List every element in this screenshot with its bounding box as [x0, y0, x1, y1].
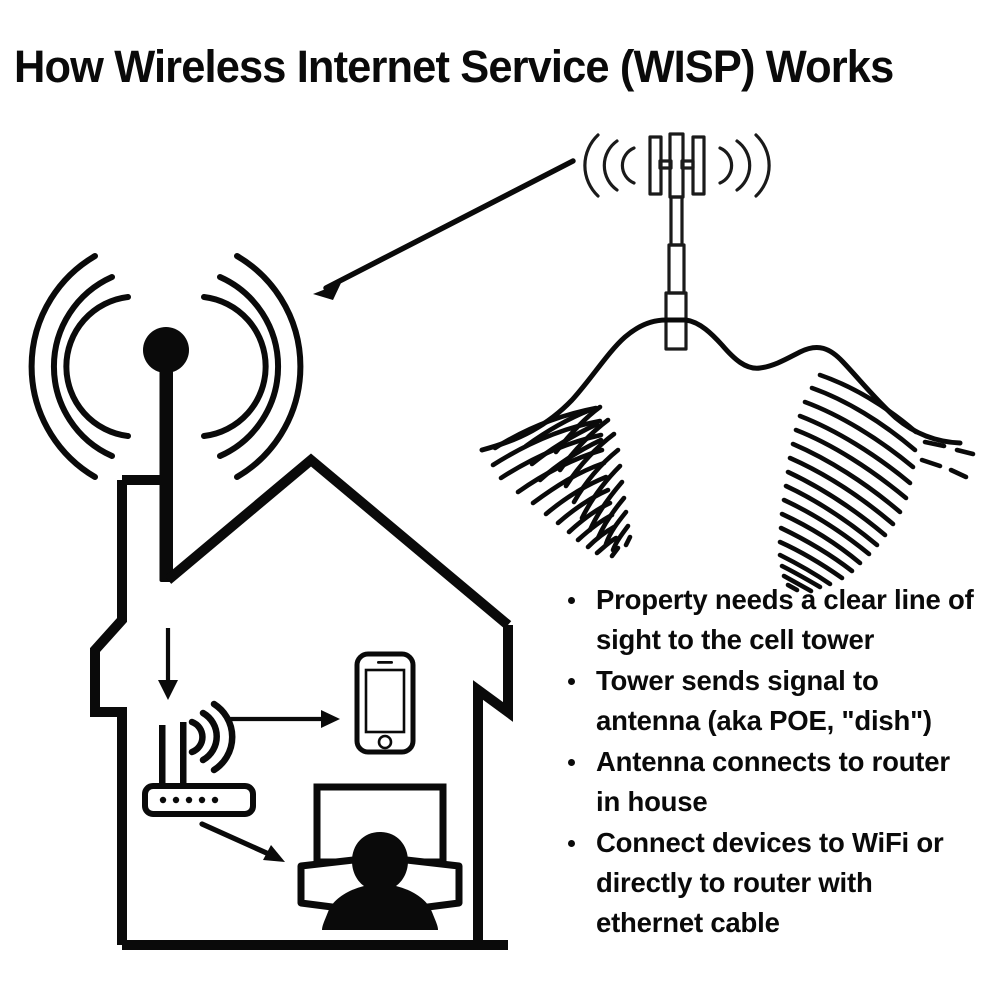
cell-tower-icon: [650, 134, 704, 349]
tower-signal-waves-left-icon: [585, 135, 634, 196]
list-item: Connect devices to WiFi or directly to r…: [556, 823, 976, 943]
mountain-shading-right: [780, 375, 916, 591]
list-item: Antenna connects to router in house: [556, 742, 976, 822]
ethernet-arrow: [202, 824, 285, 862]
tower-signal-waves-right-icon: [720, 135, 769, 196]
signal-arrow: [313, 161, 573, 300]
workstation-icon: [301, 787, 459, 930]
mountain-shading-far-right: [922, 442, 973, 477]
property-antenna-icon: [143, 327, 189, 582]
smartphone-icon: [357, 654, 413, 752]
antenna-waves-right-icon: [204, 256, 300, 477]
cable-arrow: [158, 628, 178, 700]
list-item: Property needs a clear line of sight to …: [556, 580, 976, 660]
antenna-waves-left-icon: [32, 256, 128, 477]
list-item: Tower sends signal to antenna (aka POE, …: [556, 661, 976, 741]
wisp-bullet-list: Property needs a clear line of sight to …: [556, 580, 976, 944]
router-wifi-waves-icon: [192, 704, 232, 770]
router-icon: [145, 722, 253, 814]
wisp-diagram-page: How Wireless Internet Service (WISP) Wor…: [0, 0, 1000, 1000]
wifi-arrow: [226, 710, 340, 728]
